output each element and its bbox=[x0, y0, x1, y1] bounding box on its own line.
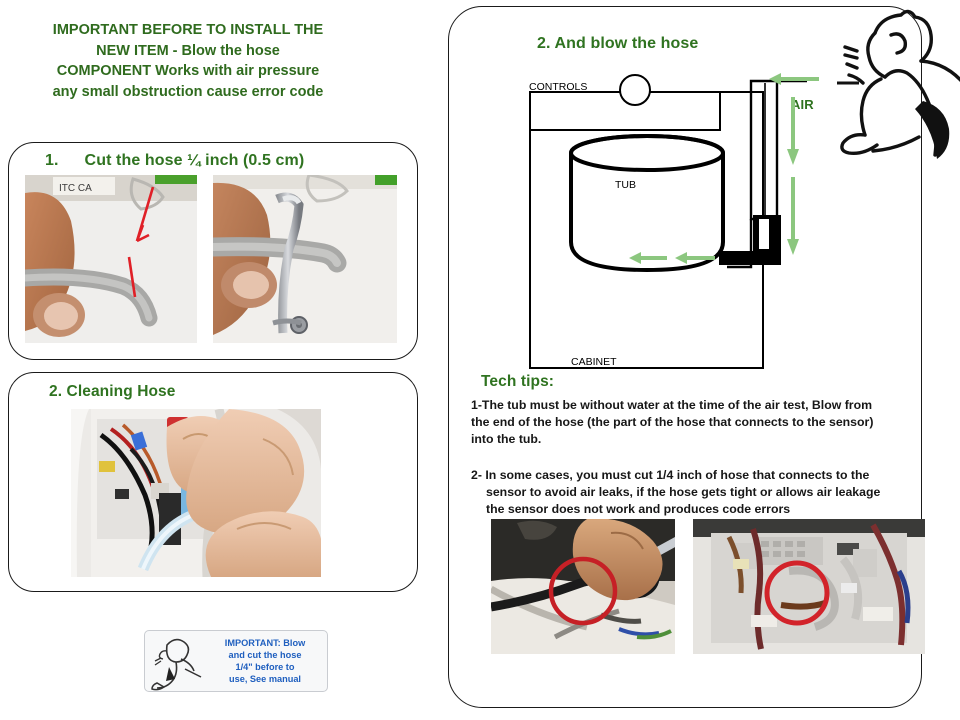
controls-label: CONTROLS bbox=[529, 81, 587, 93]
tech-tip-2: 2- In some cases, you must cut 1/4 inch … bbox=[471, 467, 891, 518]
air-label: AIR bbox=[791, 97, 814, 112]
step-clean-title: 2. Cleaning Hose bbox=[49, 383, 176, 401]
step-cut-title: 1.Cut the hose ¼ inch (0.5 cm) bbox=[45, 152, 304, 170]
control-knob-icon bbox=[619, 74, 651, 106]
intro-line-1: IMPORTANT BEFORE TO INSTALL THE bbox=[8, 20, 368, 41]
tub-shape bbox=[567, 134, 727, 274]
photo-cleaning-hose bbox=[71, 409, 321, 577]
blow-hose-panel: 2. And blow the hose CONTROLS TUB CABINE… bbox=[448, 6, 922, 708]
tech-tip-2-lead: 2- In some cases, you must cut 1/4 inch … bbox=[471, 468, 869, 482]
tech-tip-2-rest: sensor to avoid air leaks, if the hose g… bbox=[471, 484, 891, 518]
washer-air-test-diagram: CONTROLS TUB CABINET AIR bbox=[519, 69, 849, 379]
poster-root: IMPORTANT BEFORE TO INSTALL THE NEW ITEM… bbox=[0, 0, 960, 720]
sticker-line-2: and cut the hose bbox=[209, 649, 321, 661]
person-blowing-hose-icon bbox=[145, 631, 209, 691]
sticker-line-4: use, See manual bbox=[209, 673, 321, 685]
intro-heading: IMPORTANT BEFORE TO INSTALL THE NEW ITEM… bbox=[8, 20, 368, 102]
tech-tips-title: Tech tips: bbox=[481, 373, 554, 391]
photo-control-board bbox=[693, 519, 925, 654]
intro-line-2: NEW ITEM - Blow the hose bbox=[8, 41, 368, 62]
step-card-cut-hose: 1.Cut the hose ¼ inch (0.5 cm) ITC CA bbox=[8, 142, 418, 360]
technician-blowing-figure bbox=[819, 9, 960, 161]
tech-tip-1: 1-The tub must be without water at the t… bbox=[471, 397, 891, 448]
intro-line-4: any small obstruction cause error code bbox=[8, 82, 368, 103]
sticker-text: IMPORTANT: Blow and cut the hose 1/4" be… bbox=[209, 637, 327, 686]
photo-hose-cut-mark: ITC CA bbox=[25, 175, 197, 343]
cabinet-label: CABINET bbox=[571, 356, 617, 368]
svg-text:ITC CA: ITC CA bbox=[59, 183, 92, 194]
right-panel-title: 2. And blow the hose bbox=[537, 35, 698, 53]
step-card-cleaning-hose: 2. Cleaning Hose bbox=[8, 372, 418, 592]
sticker-line-3: 1/4" before to bbox=[209, 661, 321, 673]
photo-hose-being-cut bbox=[213, 175, 397, 343]
sticker-line-1: IMPORTANT: Blow bbox=[209, 637, 321, 649]
tub-label: TUB bbox=[615, 179, 636, 191]
photo-pressure-sensor bbox=[491, 519, 675, 654]
intro-line-3: COMPONENT Works with air pressure bbox=[8, 61, 368, 82]
step-cut-number: 1. bbox=[45, 152, 59, 169]
warning-sticker-label: IMPORTANT: Blow and cut the hose 1/4" be… bbox=[144, 630, 328, 692]
step-cut-title-text: Cut the hose ¼ inch (0.5 cm) bbox=[85, 152, 305, 169]
